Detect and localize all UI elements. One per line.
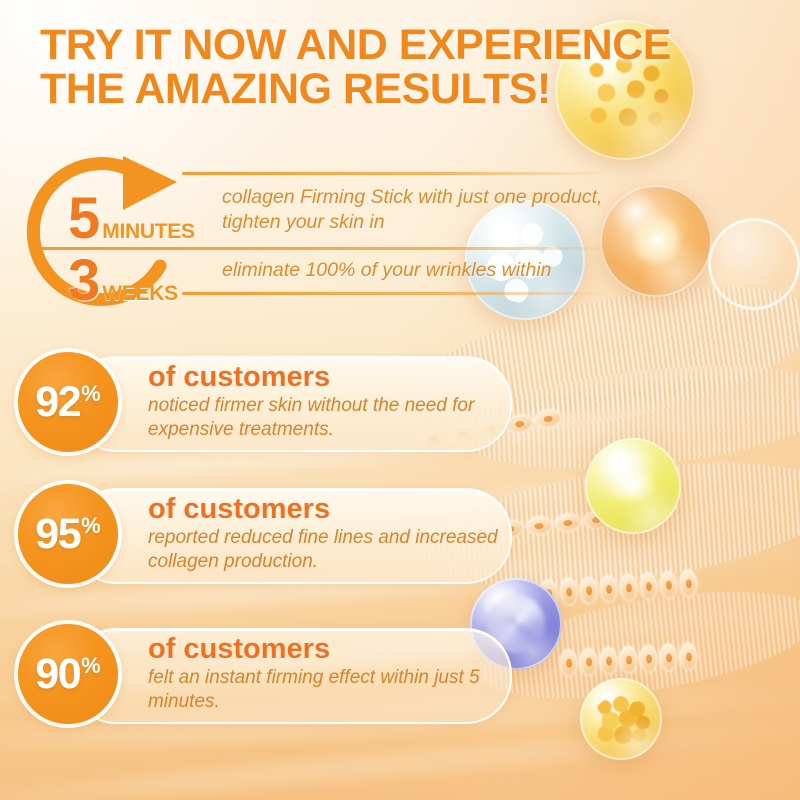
headline-line-2: THE AMAZING RESULTS!	[40, 68, 740, 112]
stat-text-block: of customers felt an instant firming eff…	[148, 634, 508, 714]
stat-percent-badge: 90 %	[18, 624, 118, 724]
stat-card-92: 92 % of customers noticed firmer skin wi…	[18, 352, 508, 452]
honeycomb-texture	[593, 696, 650, 747]
cycle-copy-bottom: eliminate 100% of your wrinkles within	[222, 258, 642, 283]
poster-canvas: TRY IT NOW AND EXPERIENCE THE AMAZING RE…	[0, 0, 800, 800]
sphere-core	[608, 467, 658, 505]
stat-percent-value: 90 %	[35, 653, 100, 696]
stat-percent-value: 95 %	[35, 513, 100, 556]
glass-ring-accent	[708, 218, 800, 310]
stat-card-95: 95 % of customers reported reduced fine …	[18, 484, 508, 584]
timing-unit-minutes: MINUTES	[102, 220, 194, 244]
skin-cell	[619, 646, 637, 674]
stat-heading: of customers	[148, 494, 508, 524]
percent-sign: %	[81, 515, 101, 537]
stat-percent-badge: 92 %	[18, 352, 118, 452]
skin-cell	[539, 579, 558, 607]
timing-unit-weeks: WEEKS	[102, 282, 178, 306]
yellow-oil-sphere	[585, 438, 681, 534]
stat-text-block: of customers reported reduced fine lines…	[148, 494, 508, 574]
percent-sign: %	[81, 655, 101, 677]
skin-cell	[559, 578, 578, 606]
skin-cell	[659, 643, 677, 671]
skin-cell	[679, 642, 697, 670]
stat-description: reported reduced fine lines and increase…	[148, 526, 508, 573]
timing-value-weeks: 3	[68, 252, 100, 310]
stat-description: felt an instant firming effect within ju…	[148, 666, 508, 713]
stat-heading: of customers	[148, 362, 508, 392]
skin-cell	[559, 649, 577, 677]
timing-cycle-block: 5 MINUTES 3 WEEKS collagen Firming Stick…	[22, 148, 622, 318]
stat-description: noticed firmer skin without the need for…	[148, 394, 508, 441]
skin-cell-chain	[499, 569, 697, 610]
skin-cell	[499, 582, 518, 610]
divider-line-bottom	[182, 292, 612, 295]
skin-cell	[525, 516, 553, 536]
skin-cell	[583, 510, 611, 530]
skin-cell-chain	[559, 642, 697, 676]
stat-text-block: of customers noticed firmer skin without…	[148, 362, 508, 442]
cycle-copy-top: collagen Firming Stick with just one pro…	[222, 185, 622, 234]
stat-percent-badge: 95 %	[18, 484, 118, 584]
stat-number: 95	[35, 513, 80, 556]
headline-line-1: TRY IT NOW AND EXPERIENCE	[40, 21, 671, 69]
skin-cell	[534, 408, 563, 429]
skin-cell	[659, 571, 678, 599]
stat-heading: of customers	[148, 634, 508, 664]
skin-cell	[639, 572, 658, 600]
stat-percent-value: 92 %	[35, 381, 100, 424]
divider-line-top	[182, 172, 612, 175]
skin-cell	[579, 648, 597, 676]
skin-cell	[679, 569, 698, 597]
honeycomb-sphere-small	[580, 678, 662, 760]
skin-cell	[519, 580, 538, 608]
skin-cell	[599, 575, 618, 603]
stat-card-90: 90 % of customers felt an instant firmin…	[18, 624, 508, 724]
percent-sign: %	[81, 383, 101, 405]
timing-row-weeks: 3 WEEKS	[68, 252, 178, 310]
skin-cell	[639, 645, 657, 673]
timing-value-minutes: 5	[68, 190, 100, 248]
skin-cell	[619, 573, 638, 601]
collagen-fiber-band	[475, 571, 800, 719]
skin-cell	[554, 513, 582, 533]
stat-number: 92	[35, 381, 80, 424]
skin-cell	[579, 576, 598, 604]
stat-number: 90	[35, 653, 80, 696]
timing-row-minutes: 5 MINUTES	[68, 190, 195, 248]
page-title: TRY IT NOW AND EXPERIENCE THE AMAZING RE…	[40, 24, 740, 112]
skin-cell	[599, 647, 617, 675]
